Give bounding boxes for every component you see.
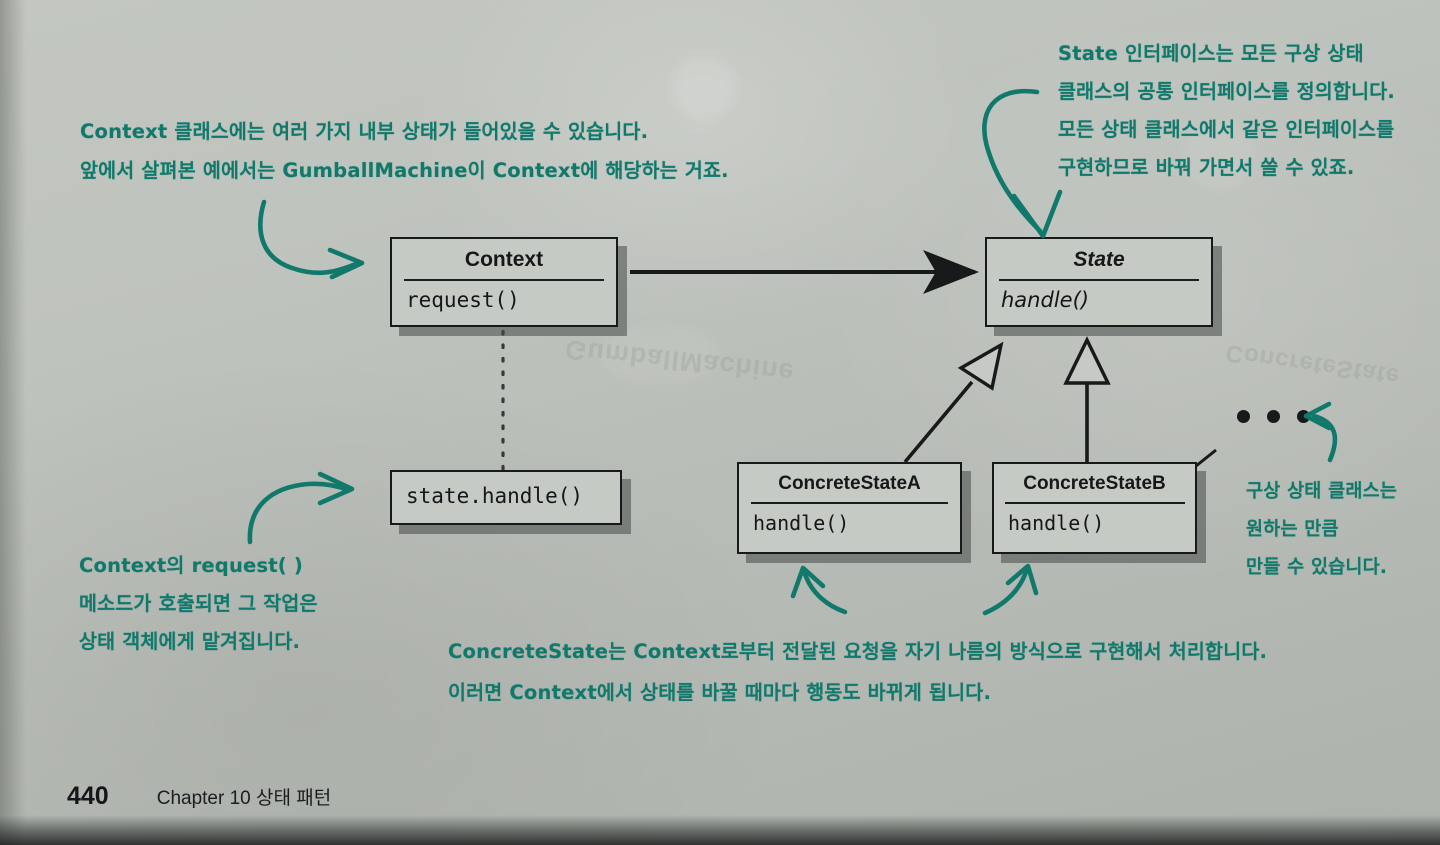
annotation-arrow-concrete-a [793, 568, 845, 612]
notebook-page: GumballMachine ConcreteState Context req… [0, 0, 1440, 845]
annotation-arrow-concrete-b [985, 566, 1036, 613]
annotation-many-states-note: 구상 상태 클래스는 원하는 만큼 만들 수 있습니다. [1246, 473, 1397, 587]
page-footer: 440 Chapter 10 상태 패턴 [67, 782, 331, 811]
annotation-arrow-request [250, 474, 352, 542]
annotation-concrete-state-note: ConcreteState는 Context로부터 전달된 요청을 자기 나름의… [448, 631, 1267, 713]
chapter-title: Chapter 10 상태 패턴 [157, 783, 332, 810]
annotation-request-note: Context의 request( ) 메소드가 호출되면 그 작업은 상태 객… [79, 547, 318, 661]
page-number: 440 [67, 782, 109, 811]
annotation-arrow-many [1306, 404, 1335, 460]
annotation-context-note: Context 클래스에는 여러 가지 내부 상태가 들어있을 수 있습니다. … [80, 112, 729, 190]
annotation-state-note: State 인터페이스는 모든 구상 상태 클래스의 공통 인터페이스를 정의합… [1058, 35, 1395, 187]
annotation-arrow-state [984, 91, 1060, 236]
annotation-arrow-context [260, 202, 362, 277]
